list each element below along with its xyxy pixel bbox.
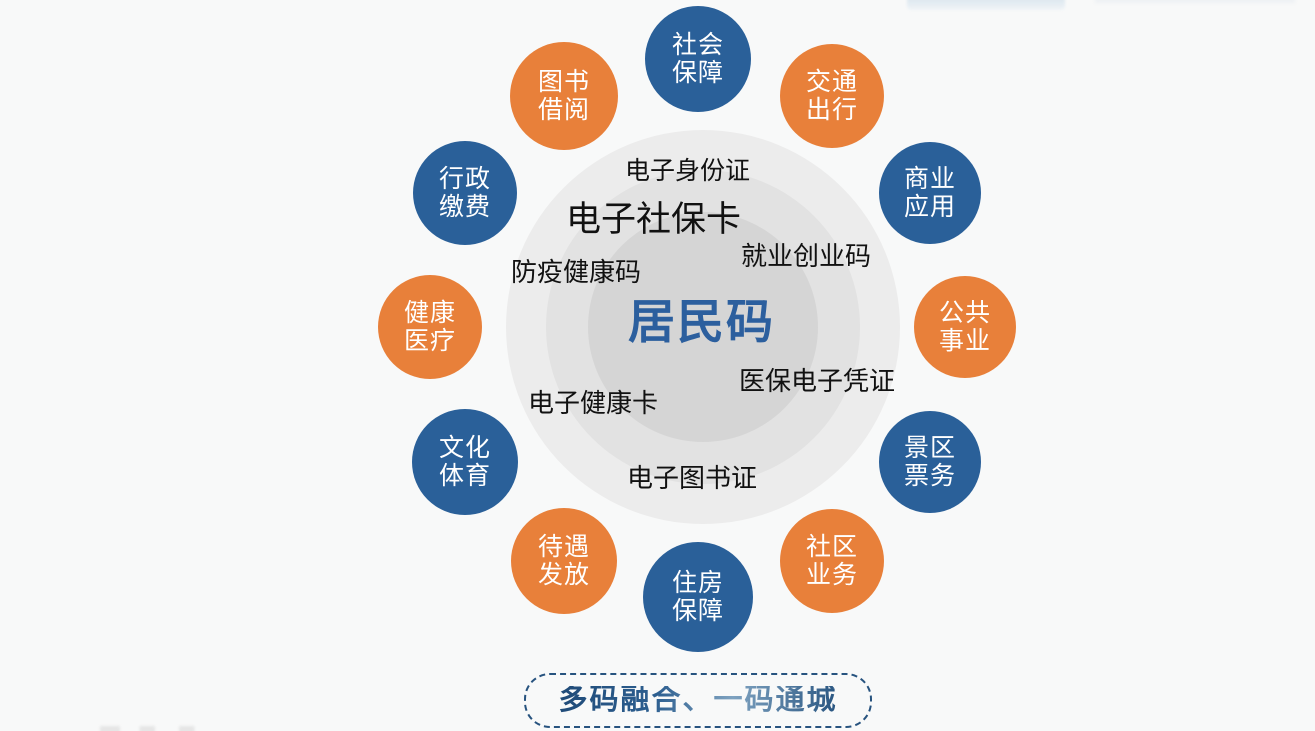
service-bubble-housing-security[interactable]: 住房保障	[643, 542, 753, 652]
bubble-label-line: 住房	[672, 569, 724, 597]
center-brand-label: 居民码	[628, 298, 775, 345]
service-bubble-transportation[interactable]: 交通出行	[780, 44, 884, 148]
service-bubble-scenic-ticket[interactable]: 景区票务	[879, 411, 981, 513]
bubble-label-line: 出行	[806, 96, 858, 124]
bubble-label-line: 医疗	[404, 327, 456, 355]
bubble-label-line: 票务	[904, 462, 956, 490]
infographic-canvas: 电子身份证电子社保卡防疫健康码就业创业码医保电子凭证电子健康卡电子图书证 居民码…	[0, 0, 1315, 731]
bubble-label-line: 商业	[904, 165, 956, 193]
bubble-label-line: 保障	[672, 597, 724, 625]
inner-service-label: 电子社保卡	[566, 202, 741, 237]
service-bubble-culture-sports[interactable]: 文化体育	[412, 409, 518, 515]
bubble-label-line: 体育	[439, 462, 491, 490]
service-bubble-community-biz[interactable]: 社区业务	[780, 509, 884, 613]
bubble-label-line: 社区	[806, 533, 858, 561]
bubble-label-line: 公共	[939, 299, 991, 327]
bubble-label-line: 缴费	[439, 193, 491, 221]
inner-service-label: 就业创业码	[741, 243, 871, 269]
bubble-label-line: 待遇	[538, 533, 590, 561]
service-bubble-benefit-payment[interactable]: 待遇发放	[511, 508, 617, 614]
bubble-label-line: 文化	[439, 434, 491, 462]
bubble-label-line: 社会	[672, 31, 724, 59]
bubble-label-line: 交通	[806, 68, 858, 96]
service-bubble-health-medical[interactable]: 健康医疗	[378, 275, 482, 379]
slogan-text: 多码融合、一码通城	[558, 686, 837, 715]
bubble-label-line: 借阅	[538, 96, 590, 124]
bubble-label-line: 行政	[439, 165, 491, 193]
inner-service-label: 电子图书证	[627, 465, 757, 491]
bubble-label-line: 应用	[904, 193, 956, 221]
inner-service-label: 电子健康卡	[528, 390, 658, 416]
inner-service-label: 防疫健康码	[511, 259, 641, 285]
bubble-label-line: 健康	[404, 299, 456, 327]
service-bubble-social-security[interactable]: 社会保障	[645, 6, 751, 112]
bubble-label-line: 业务	[806, 561, 858, 589]
bubble-label-line: 图书	[538, 68, 590, 96]
cropped-top-banner-right	[1095, 0, 1295, 3]
inner-service-label: 医保电子凭证	[739, 368, 895, 394]
service-bubble-commercial-apps[interactable]: 商业应用	[879, 142, 981, 244]
bubble-label-line: 发放	[538, 561, 590, 589]
service-bubble-admin-fees[interactable]: 行政缴费	[413, 141, 517, 245]
slogan-box: 多码融合、一码通城	[524, 673, 872, 728]
service-bubble-library-lending[interactable]: 图书借阅	[510, 42, 618, 150]
cropped-bottom-marks	[100, 726, 210, 731]
bubble-label-line: 景区	[904, 434, 956, 462]
bubble-label-line: 事业	[939, 327, 991, 355]
cropped-top-banner	[907, 0, 1065, 10]
inner-service-label: 电子身份证	[625, 159, 750, 184]
bubble-label-line: 保障	[672, 59, 724, 87]
service-bubble-public-utility[interactable]: 公共事业	[914, 276, 1016, 378]
